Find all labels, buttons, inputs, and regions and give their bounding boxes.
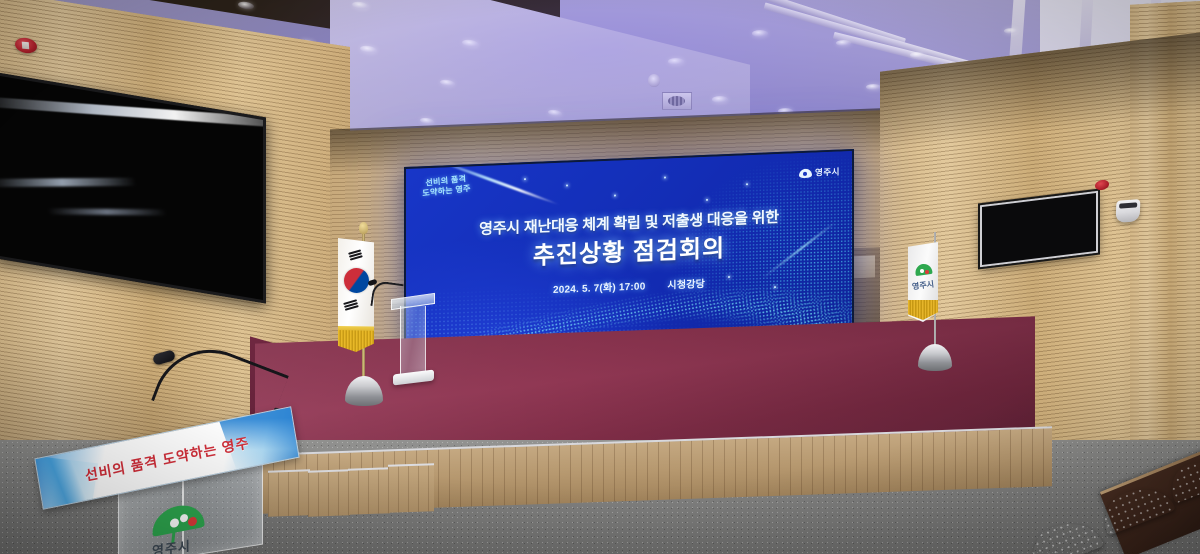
auditorium-scene: 선비의 품격 도약하는 영주 영주시 영주시 재난대응 체계 확립 및 저출생 …: [0, 0, 1200, 554]
ceiling-downlight: [668, 58, 684, 65]
led-meta-separator: [648, 289, 664, 290]
lectern-gooseneck-microphone[interactable]: [370, 280, 403, 310]
stage-step: [388, 463, 434, 513]
stage-step: [308, 469, 350, 516]
ceiling-downlight: [836, 40, 851, 46]
yeongju-city-logo: 영주시: [799, 166, 840, 180]
city-emblem-dot-white: [920, 269, 924, 273]
ceiling-downlight: [752, 30, 768, 37]
city-logo-text: 영주시: [815, 166, 840, 179]
led-location: 시청강당: [667, 279, 705, 292]
ceiling-downlight: [238, 1, 255, 10]
stage-step: [268, 469, 310, 516]
hvac-vent-grill: [668, 96, 685, 106]
ceiling-downlight: [910, 52, 925, 58]
city-emblem-dot-red: [925, 270, 929, 274]
led-video-wall[interactable]: 선비의 품격 도약하는 영주 영주시 영주시 재난대응 체계 확립 및 저출생 …: [404, 149, 854, 347]
city-logo-mark-icon: [799, 168, 812, 178]
ceiling-downlight: [866, 84, 881, 90]
monitor-glare: [47, 208, 166, 215]
lectern-body: [400, 306, 426, 374]
ceiling-speaker: [648, 74, 660, 87]
monitor-glare: [0, 178, 137, 187]
korean-flag-finial-icon: [359, 222, 368, 234]
ceiling-downlight: [1004, 28, 1018, 34]
ceiling-downlight: [712, 96, 728, 103]
city-flag-text: 영주시: [911, 279, 934, 293]
stage-step: [348, 467, 390, 514]
